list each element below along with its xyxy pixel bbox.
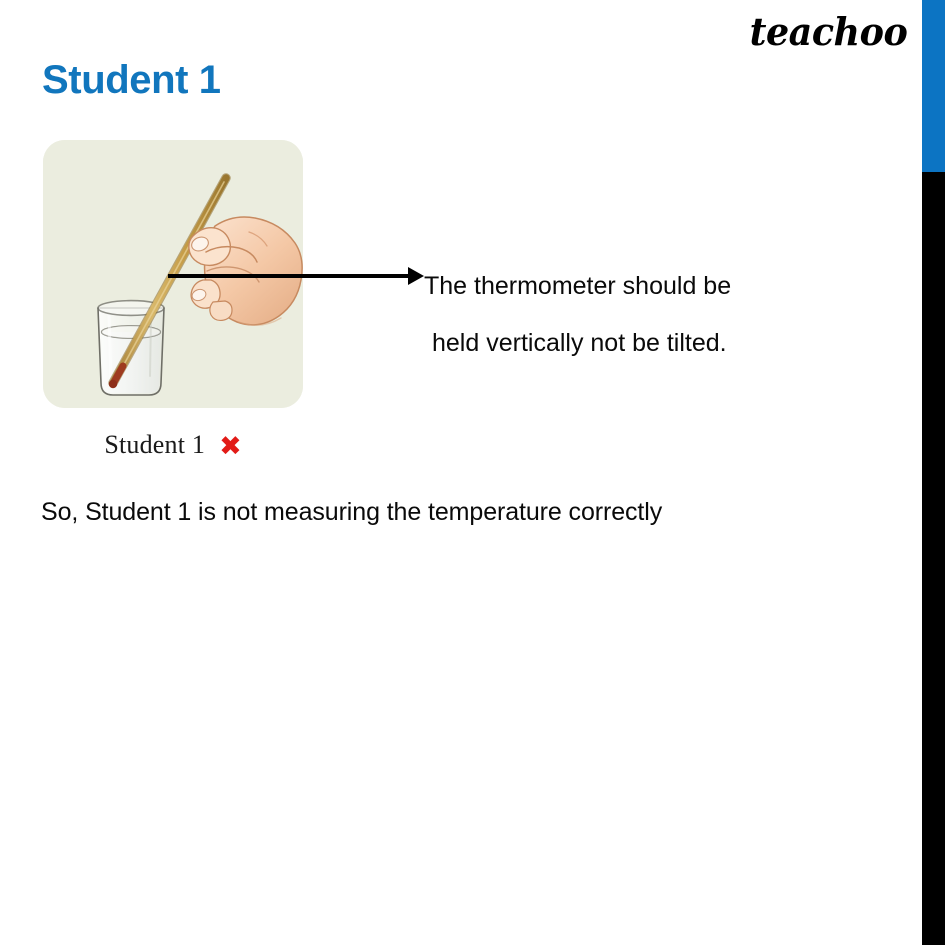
page-title: Student 1 [42,58,221,102]
pointer-arrow-right [168,262,424,290]
caption-label: Student 1 [104,430,205,460]
annotation-line-1: The thermometer should be [424,272,731,300]
annotation-text: The thermometer should be held verticall… [424,258,844,372]
cross-mark-icon: ✖ [219,433,242,460]
edge-accent-bar-blue [922,0,945,172]
conclusion-text: So, Student 1 is not measuring the tempe… [41,498,662,527]
edge-accent-bar-black [922,172,945,945]
image-caption: Student 1 ✖ [43,430,303,460]
annotation-line-2: held vertically not be tilted. [424,315,844,372]
teachoo-logo: teachoo [749,13,907,51]
